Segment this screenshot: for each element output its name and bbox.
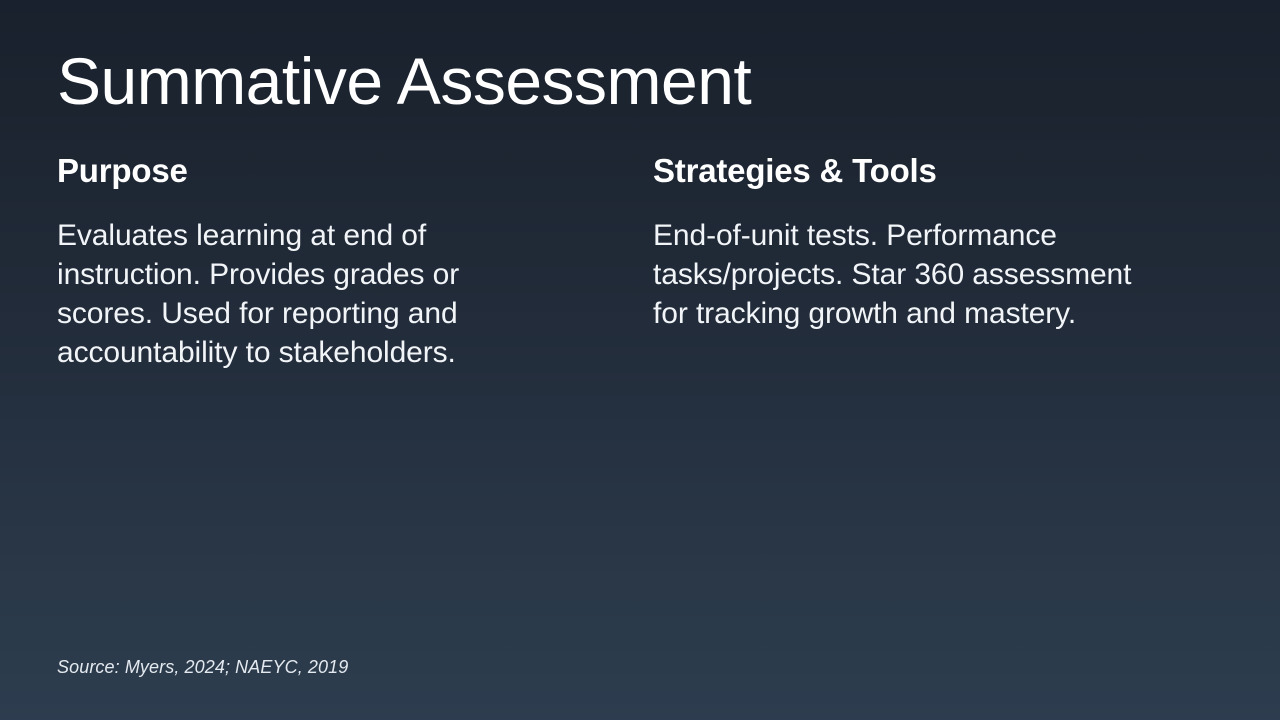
- source-citation: Source: Myers, 2024; NAEYC, 2019: [57, 656, 348, 679]
- column-purpose: Purpose Evaluates learning at end of ins…: [57, 152, 557, 372]
- page-title: Summative Assessment: [57, 48, 1217, 114]
- column-heading-strategies-tools: Strategies & Tools: [653, 152, 1153, 190]
- content-columns: Purpose Evaluates learning at end of ins…: [57, 152, 1223, 372]
- presentation-slide: Summative Assessment Purpose Evaluates l…: [0, 0, 1280, 720]
- column-body-purpose: Evaluates learning at end of instruction…: [57, 216, 539, 372]
- column-heading-purpose: Purpose: [57, 152, 557, 190]
- column-strategies-tools: Strategies & Tools End-of-unit tests. Pe…: [653, 152, 1153, 333]
- column-body-strategies-tools: End-of-unit tests. Performance tasks/pro…: [653, 216, 1145, 333]
